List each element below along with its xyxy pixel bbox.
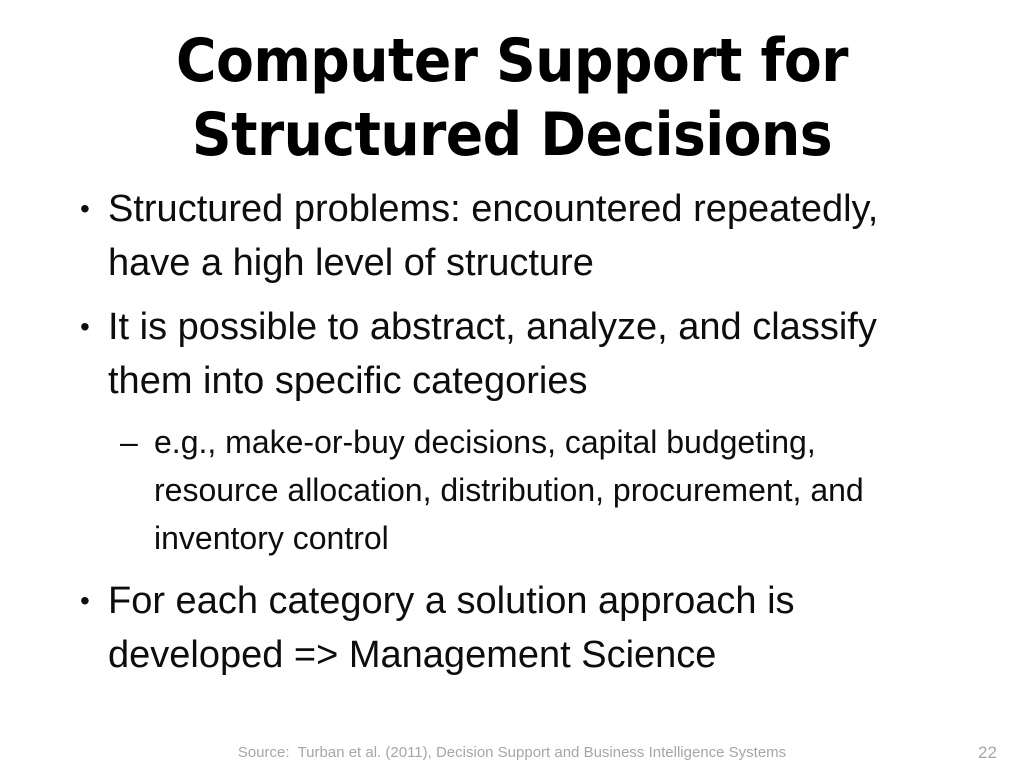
dash-marker-icon: – — [120, 418, 154, 466]
sub-list-item: – e.g., make-or-buy decisions, capital b… — [120, 418, 962, 562]
list-item: • For each category a solution approach … — [72, 574, 962, 682]
bullet-text: Structured problems: encountered repeate… — [108, 182, 946, 290]
page-number: 22 — [978, 743, 1018, 763]
page-title: Computer Support for Structured Decision… — [98, 24, 926, 172]
bullet-marker-icon: • — [72, 300, 108, 354]
sub-bullet-text: e.g., make-or-buy decisions, capital bud… — [154, 418, 934, 562]
list-item: • It is possible to abstract, analyze, a… — [72, 300, 962, 408]
slide-body: • Structured problems: encountered repea… — [72, 182, 962, 692]
slide-canvas: Computer Support for Structured Decision… — [0, 0, 1024, 768]
source-citation: Source: Turban et al. (2011), Decision S… — [0, 744, 1024, 761]
bullet-marker-icon: • — [72, 182, 108, 236]
slide-title: Computer Support for Structured Decision… — [62, 24, 962, 172]
bullet-text: It is possible to abstract, analyze, and… — [108, 300, 946, 408]
bullet-marker-icon: • — [72, 574, 108, 628]
bullet-text: For each category a solution approach is… — [108, 574, 946, 682]
list-item: • Structured problems: encountered repea… — [72, 182, 962, 290]
